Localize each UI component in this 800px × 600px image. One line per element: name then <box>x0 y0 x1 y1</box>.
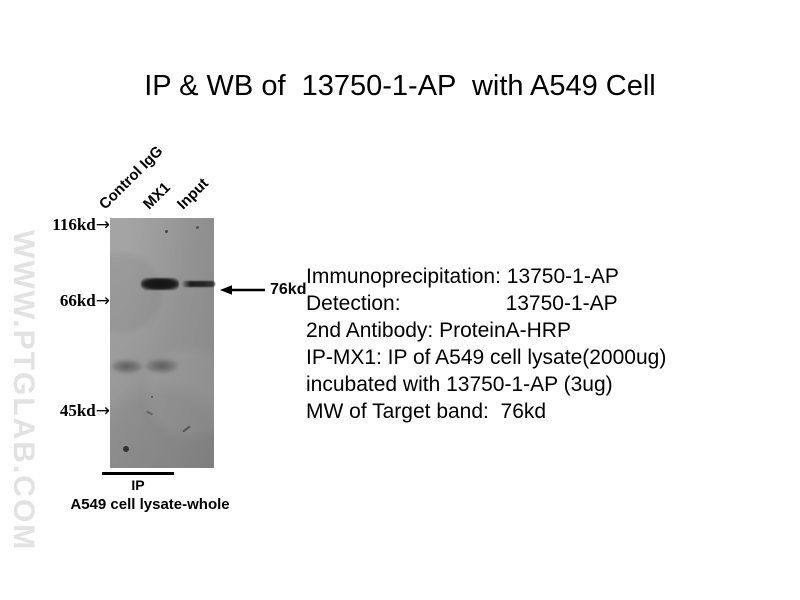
experiment-details: Immunoprecipitation: 13750-1-AP Detectio… <box>306 263 666 425</box>
western-blot-figure: IP & WB of 13750-1-AP with A549 Cell WWW… <box>0 0 800 600</box>
target-band-label: 76kd <box>270 281 306 299</box>
blot-membrane <box>110 218 214 468</box>
ip-group-label: IP <box>102 477 174 493</box>
membrane-speck <box>165 230 168 233</box>
membrane-speck <box>196 226 199 229</box>
band-input-76kd <box>182 281 215 287</box>
detail-line-immunoprecipitation: Immunoprecipitation: 13750-1-AP <box>306 263 666 290</box>
membrane-speck <box>151 396 153 398</box>
watermark-text: WWW.PTGLAB.COM <box>6 230 40 460</box>
band-mx1-heavy-chain <box>146 359 178 373</box>
band-mx1-76kd <box>141 278 179 290</box>
mw-marker-66kd-arrow-icon: → <box>96 291 110 311</box>
band-control-igg-heavy-chain <box>112 360 142 373</box>
mw-marker-45kd: 45kd→ <box>22 401 110 421</box>
lane-label-input: Input <box>174 175 212 213</box>
mw-marker-116kd-label: 116kd <box>52 215 95 234</box>
mw-marker-116kd-arrow-icon: → <box>96 215 110 235</box>
ip-group-bar <box>102 472 174 475</box>
left-arrow-icon <box>218 283 266 297</box>
mw-marker-66kd-label: 66kd <box>60 291 96 310</box>
mw-marker-116kd: 116kd→ <box>22 215 110 235</box>
membrane-speck <box>123 446 129 452</box>
mw-marker-66kd: 66kd→ <box>22 291 110 311</box>
mw-marker-45kd-arrow-icon: → <box>96 401 110 421</box>
target-band-pointer: 76kd <box>218 281 306 299</box>
detail-line-ip-mx1: IP-MX1: IP of A549 cell lysate(2000ug) <box>306 344 666 371</box>
detail-line-incubated: incubated with 13750-1-AP (3ug) <box>306 371 666 398</box>
membrane-background <box>110 218 214 468</box>
figure-title: IP & WB of 13750-1-AP with A549 Cell <box>0 70 800 103</box>
sample-label: A549 cell lysate-whole <box>40 496 260 513</box>
detail-line-detection: Detection: 13750-1-AP <box>306 290 666 317</box>
detail-line-2nd-antibody: 2nd Antibody: ProteinA-HRP <box>306 317 666 344</box>
mw-marker-45kd-label: 45kd <box>60 401 96 420</box>
detail-line-mw-target: MW of Target band: 76kd <box>306 398 666 425</box>
lane-label-mx1: MX1 <box>140 179 174 213</box>
